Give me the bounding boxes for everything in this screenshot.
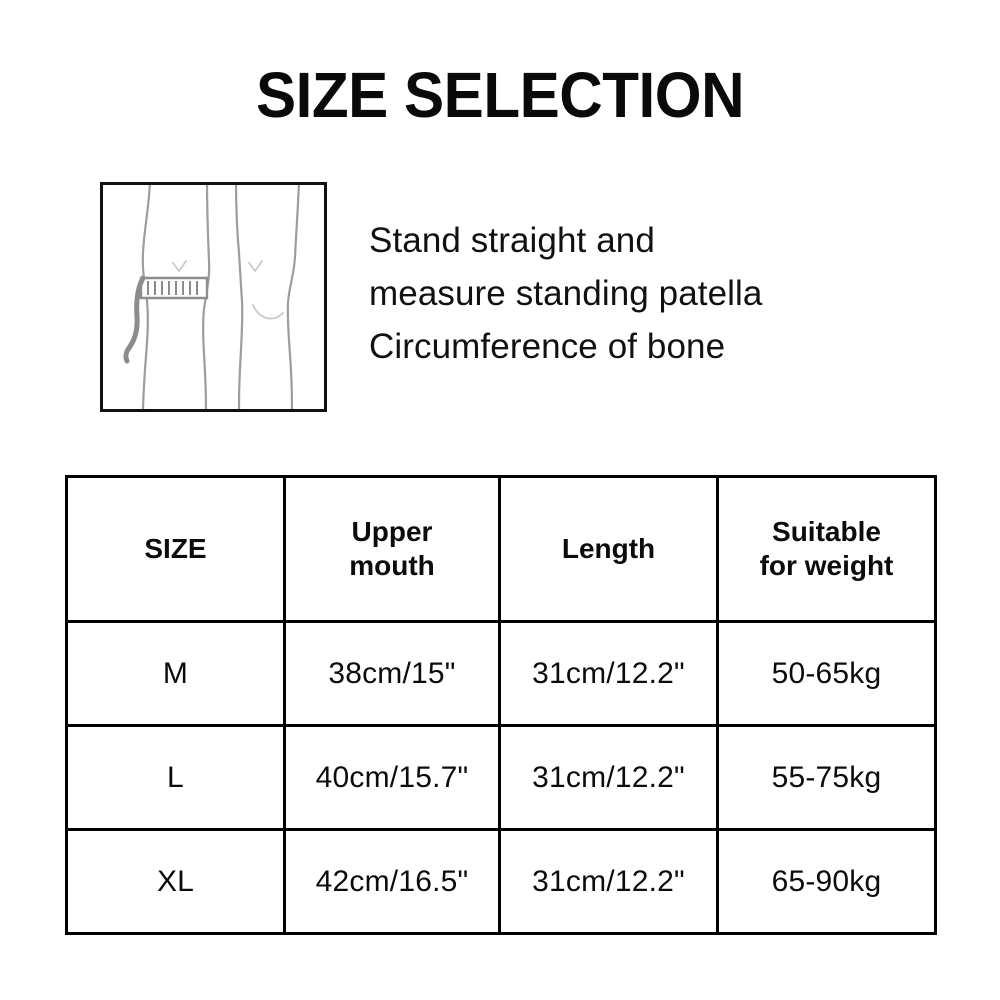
column-header-weight-line-2: for weight — [719, 549, 934, 583]
cell-length: 31cm/12.2" — [500, 830, 718, 934]
table-header-row: SIZE Upper mouth Length Suitable for wei… — [67, 477, 936, 622]
measuring-tape-icon — [126, 278, 207, 361]
cell-size: XL — [67, 830, 285, 934]
cell-weight: 65-90kg — [718, 830, 936, 934]
cell-size: M — [67, 622, 285, 726]
column-header-upper-mouth: Upper mouth — [285, 477, 500, 622]
page-title: SIZE SELECTION — [30, 62, 970, 128]
table-row: L 40cm/15.7" 31cm/12.2" 55-75kg — [67, 726, 936, 830]
column-header-weight-line-1: Suitable — [719, 515, 934, 549]
legs-with-tape-icon — [103, 185, 324, 409]
column-header-size-line-1: SIZE — [68, 532, 283, 566]
column-header-upper-mouth-line-2: mouth — [286, 549, 498, 583]
cell-length: 31cm/12.2" — [500, 622, 718, 726]
cell-upper-mouth: 42cm/16.5" — [285, 830, 500, 934]
table-body: M 38cm/15" 31cm/12.2" 50-65kg L 40cm/15.… — [67, 622, 936, 934]
cell-weight: 50-65kg — [718, 622, 936, 726]
column-header-upper-mouth-line-1: Upper — [286, 515, 498, 549]
column-header-size: SIZE — [67, 477, 285, 622]
cell-length: 31cm/12.2" — [500, 726, 718, 830]
cell-size: L — [67, 726, 285, 830]
instruction-line-2: measure standing patella — [369, 267, 929, 320]
table-header: SIZE Upper mouth Length Suitable for wei… — [67, 477, 936, 622]
size-selection-page: SIZE SELECTION — [0, 0, 1000, 1000]
measurement-instructions: Stand straight and measure standing pate… — [369, 214, 929, 373]
column-header-length-line-1: Length — [501, 532, 716, 566]
cell-upper-mouth: 38cm/15" — [285, 622, 500, 726]
table-row: XL 42cm/16.5" 31cm/12.2" 65-90kg — [67, 830, 936, 934]
table-row: M 38cm/15" 31cm/12.2" 50-65kg — [67, 622, 936, 726]
column-header-length: Length — [500, 477, 718, 622]
size-chart-table: SIZE Upper mouth Length Suitable for wei… — [65, 475, 937, 935]
knee-measurement-illustration — [100, 182, 327, 412]
instruction-line-1: Stand straight and — [369, 214, 929, 267]
cell-upper-mouth: 40cm/15.7" — [285, 726, 500, 830]
cell-weight: 55-75kg — [718, 726, 936, 830]
instruction-line-3: Circumference of bone — [369, 320, 929, 373]
column-header-weight: Suitable for weight — [718, 477, 936, 622]
